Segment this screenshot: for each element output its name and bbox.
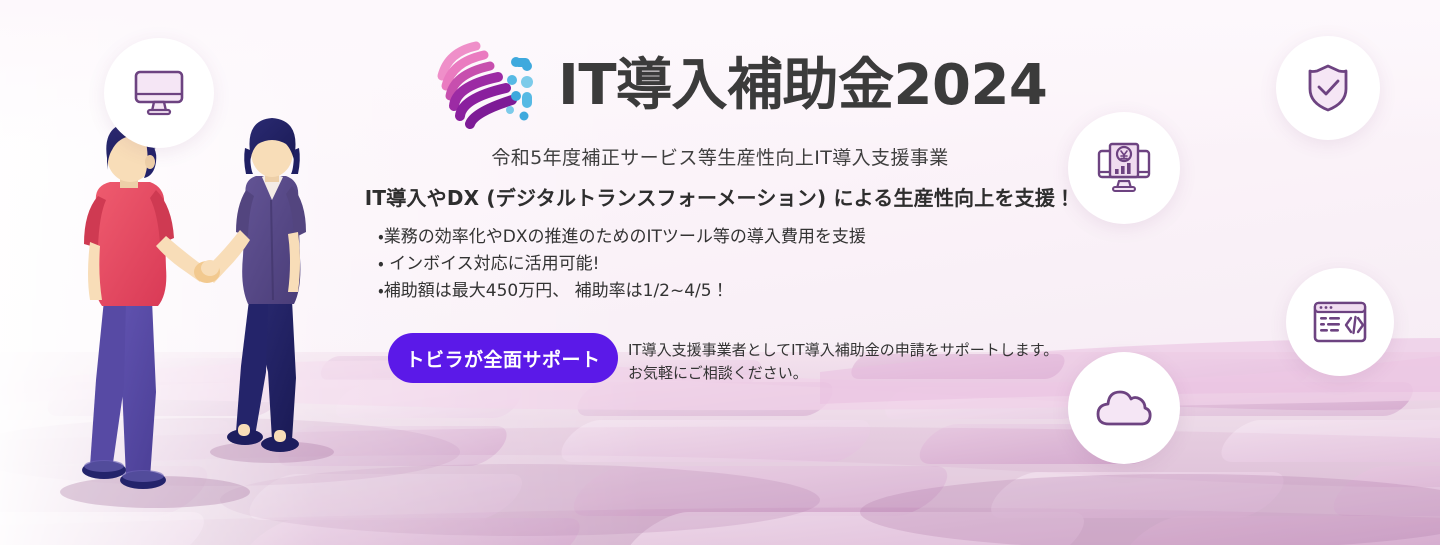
it-subsidy-banner: IT導入補助金2024 令和5年度補正サービス等生産性向上IT導入支援事業 IT… [0,0,1440,545]
code-window-icon [1313,301,1367,343]
desktop-monitor-icon [133,69,185,117]
list-item: ・補助額は最大450万円、 補助率は1/2~4/5！ [378,278,866,305]
it-hojokin-swoosh-logo [428,36,548,136]
program-subtitle: 令和5年度補正サービス等生産性向上IT導入支援事業 [0,143,1440,170]
benefit-list: ・業務の効率化やDXの推進のためのITツール等の導入費用を支援 ・ インボイス対… [378,224,866,305]
headline: IT導入やDX (デジタルトランスフォーメーション) による生産性向上を支援！ [0,182,1440,211]
shield-check-icon [1306,63,1350,113]
cta-description: IT導入支援事業者としてIT導入補助金の申請をサポートします。 お気軽にご相談く… [628,339,1058,385]
brand-lockup: IT導入補助金2024 [428,36,1047,136]
feature-circle-security[interactable] [1276,36,1380,140]
support-cta-button[interactable]: トビラが全面サポート [388,333,618,383]
feature-circle-revenue[interactable] [1068,112,1180,224]
cloud-icon [1095,388,1153,428]
monitor-yen-chart-icon [1096,141,1152,195]
page-title: IT導入補助金2024 [558,58,1047,114]
feature-circle-desktop[interactable] [104,38,214,148]
feature-circle-cloud[interactable] [1068,352,1180,464]
feature-circle-development[interactable] [1286,268,1394,376]
list-item: ・ インボイス対応に活用可能! [378,251,866,278]
list-item: ・業務の効率化やDXの推進のためのITツール等の導入費用を支援 [378,224,866,251]
